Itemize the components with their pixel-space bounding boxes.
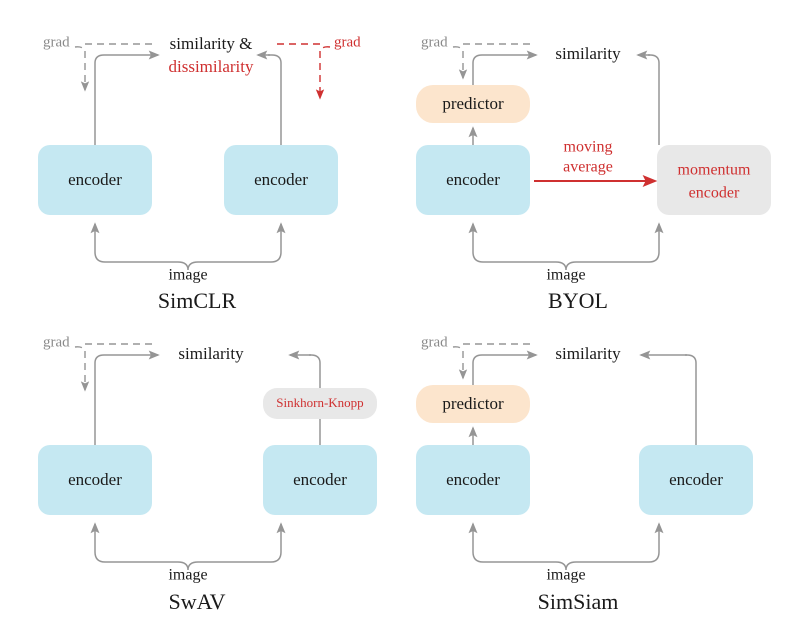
simclr-encoder-right-label: encoder (254, 170, 308, 189)
simclr-forward-right (258, 55, 281, 145)
simclr-grad-right-label: grad (334, 34, 361, 50)
swav-objective-label: similarity (178, 344, 244, 363)
simsiam-predictor-to-similarity (473, 355, 536, 385)
simclr-grad-left-label: grad (43, 34, 70, 50)
simclr-objective-line-2: dissimilarity (169, 57, 255, 76)
swav-encoder-left-label: encoder (68, 470, 122, 489)
swav-image-label: image (168, 567, 207, 584)
simsiam-encoder-left-label: encoder (446, 470, 500, 489)
swav-title: SwAV (168, 589, 225, 614)
byol-objective-label: similarity (555, 44, 621, 63)
simsiam-image-label: image (546, 567, 585, 584)
simsiam-encoder-right-label: encoder (669, 470, 723, 489)
swav-encoder-right-label: encoder (293, 470, 347, 489)
byol-predictor-to-similarity (473, 55, 536, 85)
simsiam-image-brace (473, 524, 659, 570)
simclr-grad-left-arrow (75, 44, 152, 90)
simclr-image-label: image (168, 267, 207, 284)
simclr-objective-line-1: similarity & (170, 34, 253, 53)
ssl-methods-diagram: encoder encoder grad grad similarity & d… (0, 0, 790, 636)
byol-image-label: image (546, 267, 585, 284)
panel-simsiam: predictor encoder encoder grad similarit… (416, 334, 753, 614)
byol-encoder-left-label: encoder (446, 170, 500, 189)
simsiam-objective-label: similarity (555, 344, 621, 363)
swav-forward-left (95, 355, 158, 445)
swav-grad-left-arrow (75, 344, 152, 390)
byol-momentum-encoder-line-2: encoder (689, 185, 740, 202)
byol-momentum-to-similarity (638, 55, 659, 145)
byol-moving-average-line-2: average (563, 159, 613, 176)
simsiam-forward-right (641, 355, 696, 445)
simsiam-grad-left-label: grad (421, 334, 448, 350)
simclr-title: SimCLR (158, 288, 237, 313)
byol-title: BYOL (548, 288, 608, 313)
swav-sinkhorn-knopp-label: Sinkhorn-Knopp (276, 395, 363, 410)
simclr-image-brace (95, 224, 281, 270)
simsiam-grad-left-arrow (453, 344, 530, 378)
panel-swav: encoder encoder Sinkhorn-Knopp grad simi… (38, 334, 377, 614)
swav-image-brace (95, 524, 281, 570)
byol-image-brace (473, 224, 659, 270)
byol-grad-left-label: grad (421, 34, 448, 50)
byol-moving-average-line-1: moving (564, 139, 613, 156)
simsiam-predictor-label: predictor (442, 394, 504, 413)
panel-simclr: encoder encoder grad grad similarity & d… (38, 34, 361, 313)
byol-momentum-encoder-box[interactable] (657, 145, 771, 215)
swav-grad-left-label: grad (43, 334, 70, 350)
byol-predictor-label: predictor (442, 94, 504, 113)
byol-momentum-encoder-line-1: momentum (678, 162, 751, 179)
panel-byol: predictor encoder momentum encoder grad … (416, 34, 771, 313)
simclr-forward-left (95, 55, 158, 145)
figure-root: encoder encoder grad grad similarity & d… (0, 0, 790, 636)
simclr-encoder-left-label: encoder (68, 170, 122, 189)
simsiam-title: SimSiam (538, 589, 619, 614)
byol-grad-left-arrow (453, 44, 530, 78)
